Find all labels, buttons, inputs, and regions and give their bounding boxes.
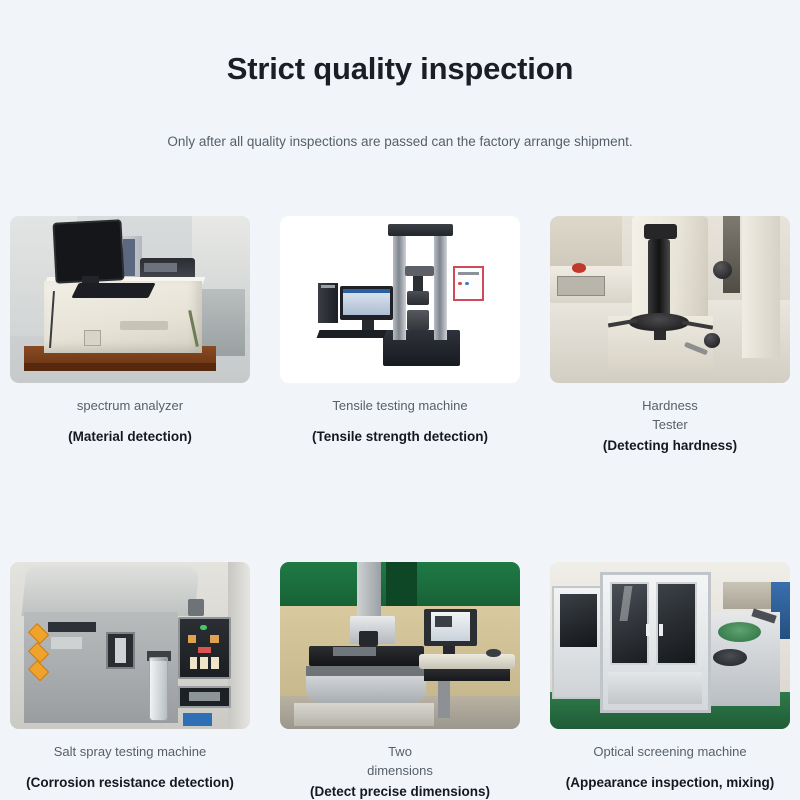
caption-block: Salt spray testing machine (Corrosion re… [10, 729, 250, 791]
card-caption-line-2: Tester [652, 417, 687, 432]
card-caption: Two dimensions [280, 743, 520, 781]
inspection-card-two-dimensions: Two dimensions (Detect precise dimension… [280, 562, 520, 800]
inspection-card-grid: spectrum analyzer (Material detection) T… [10, 216, 790, 800]
tensile-testing-machine-photo [280, 216, 520, 383]
page-subtitle: Only after all quality inspections are p… [0, 134, 800, 149]
card-caption-line-1: Two [388, 744, 412, 759]
card-subcaption: (Tensile strength detection) [280, 428, 520, 446]
card-caption-line-2: dimensions [367, 763, 433, 778]
card-caption: Hardness Tester [550, 397, 790, 435]
two-dimensions-photo [280, 562, 520, 729]
card-caption-line-1: Hardness [642, 398, 698, 413]
card-caption: Tensile testing machine [280, 397, 520, 416]
card-subcaption: (Detecting hardness) [550, 437, 790, 455]
page-title: Strict quality inspection [0, 52, 800, 86]
card-subcaption: (Detect precise dimensions) [280, 783, 520, 800]
card-subcaption: (Material detection) [10, 428, 250, 446]
salt-spray-testing-machine-photo [10, 562, 250, 729]
card-caption: Optical screening machine [550, 743, 790, 762]
caption-block: spectrum analyzer (Material detection) [10, 383, 250, 445]
inspection-card-tensile-testing-machine: Tensile testing machine (Tensile strengt… [280, 216, 520, 454]
card-subcaption: (Appearance inspection, mixing) [550, 774, 790, 792]
optical-screening-machine-photo [550, 562, 790, 729]
inspection-card-spectrum-analyzer: spectrum analyzer (Material detection) [10, 216, 250, 454]
inspection-card-hardness-tester: Hardness Tester (Detecting hardness) [550, 216, 790, 454]
card-caption: spectrum analyzer [10, 397, 250, 416]
inspection-card-salt-spray-testing-machine: Salt spray testing machine (Corrosion re… [10, 562, 250, 800]
caption-block: Tensile testing machine (Tensile strengt… [280, 383, 520, 445]
inspection-card-optical-screening-machine: Optical screening machine (Appearance in… [550, 562, 790, 800]
quality-inspection-page: Strict quality inspection Only after all… [0, 0, 800, 800]
spectrum-analyzer-photo [10, 216, 250, 383]
caption-block: Optical screening machine (Appearance in… [550, 729, 790, 791]
page-header: Strict quality inspection Only after all… [0, 0, 800, 149]
card-caption: Salt spray testing machine [10, 743, 250, 762]
caption-block: Hardness Tester (Detecting hardness) [550, 383, 790, 454]
hardness-tester-photo [550, 216, 790, 383]
card-subcaption: (Corrosion resistance detection) [10, 774, 250, 792]
caption-block: Two dimensions (Detect precise dimension… [280, 729, 520, 800]
